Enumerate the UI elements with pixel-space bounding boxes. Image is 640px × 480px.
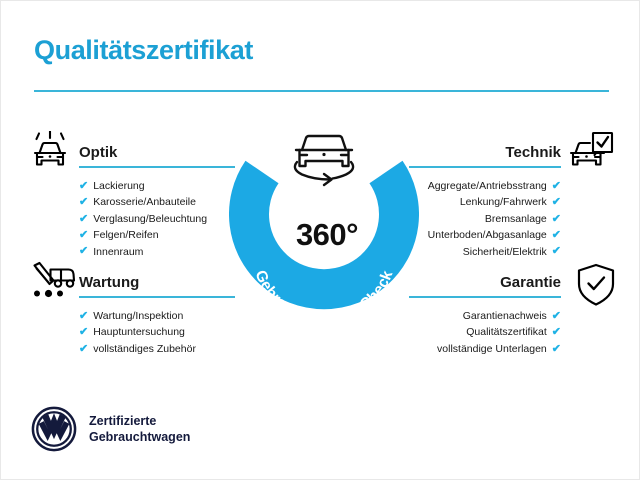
list-item-label: Bremsanlage [485,211,547,227]
list-item-label: Qualitätszertifikat [466,324,547,340]
check-icon: ✔ [79,197,88,208]
list-item: Unterboden/Abgasanlage✔ [409,227,561,243]
list-item: ✔Wartung/Inspektion [79,308,235,324]
section-technik: Technik Aggregate/Antriebsstrang✔ Lenkun… [409,139,561,260]
list-item: ✔Felgen/Reifen [79,227,235,243]
section-wartung-list: ✔Wartung/Inspektion ✔Hauptuntersuchung ✔… [79,308,235,357]
check-icon: ✔ [79,311,88,322]
check-icon: ✔ [552,181,561,192]
section-optik-title: Optik [79,144,117,161]
check-icon: ✔ [552,327,561,338]
section-garantie-list: Garantienachweis✔ Qualitätszertifikat✔ v… [409,308,561,357]
shield-check-icon [575,263,617,312]
check-icon: ✔ [79,181,88,192]
list-item: ✔Hauptuntersuchung [79,324,235,340]
check-icon: ✔ [552,214,561,225]
check-icon: ✔ [552,197,561,208]
badge-ring [249,172,399,289]
list-item: ✔Lackierung [79,178,235,194]
section-garantie-divider [409,296,561,298]
list-item: Qualitätszertifikat✔ [409,324,561,340]
section-optik-header: Optik [79,139,235,169]
list-item-label: Sicherheit/Elektrik [463,244,547,260]
car-shine-icon [27,131,73,178]
check-icon: ✔ [79,230,88,241]
list-item: Garantienachweis✔ [409,308,561,324]
check-icon: ✔ [552,230,561,241]
badge-360-gebrauchtwagen-check: Gebrauchtwagen-Check 360° [229,119,419,315]
list-item-label: Lenkung/Fahrwerk [460,194,547,210]
list-item-label: vollständiges Zubehör [93,341,196,357]
list-item: Bremsanlage✔ [409,211,561,227]
check-icon: ✔ [79,246,88,257]
check-icon: ✔ [79,344,88,355]
list-item-label: Garantienachweis [463,308,547,324]
section-garantie-title: Garantie [500,274,561,291]
check-icon: ✔ [552,246,561,257]
section-technik-list: Aggregate/Antriebsstrang✔ Lenkung/Fahrwe… [409,178,561,260]
section-technik-header: Technik [409,139,561,169]
section-wartung-divider [79,296,235,298]
section-technik-title: Technik [505,144,561,161]
footer-brand: Zertifizierte Gebrauchtwagen [31,406,190,452]
list-item: Aggregate/Antriebsstrang✔ [409,178,561,194]
list-item-label: Verglasung/Beleuchtung [93,211,207,227]
section-optik-divider [79,166,235,168]
section-technik-divider [409,166,561,168]
certificate-page: Qualitätszertifikat Optik ✔Lackierung ✔K… [1,1,639,479]
section-wartung-header: Wartung [79,269,235,299]
list-item-label: Karosserie/Anbauteile [93,194,196,210]
page-title: Qualitätszertifikat [34,35,253,66]
check-icon: ✔ [552,344,561,355]
footer-line-1: Zertifizierte [89,413,190,429]
footer-text: Zertifizierte Gebrauchtwagen [89,413,190,445]
section-optik: Optik ✔Lackierung ✔Karosserie/Anbauteile… [79,139,235,260]
section-wartung: Wartung ✔Wartung/Inspektion ✔Hauptunters… [79,269,235,357]
list-item-label: Unterboden/Abgasanlage [428,227,547,243]
section-wartung-title: Wartung [79,274,139,291]
list-item-label: Innenraum [93,244,143,260]
list-item-label: Aggregate/Antriebsstrang [428,178,547,194]
volkswagen-logo [31,406,77,452]
check-icon: ✔ [79,214,88,225]
list-item: vollständige Unterlagen✔ [409,341,561,357]
header-divider [34,90,609,92]
check-icon: ✔ [79,327,88,338]
list-item-label: Lackierung [93,178,144,194]
section-optik-list: ✔Lackierung ✔Karosserie/Anbauteile ✔Verg… [79,178,235,260]
wrench-car-service-icon [28,261,78,308]
footer-line-2: Gebrauchtwagen [89,429,190,445]
list-item: ✔Innenraum [79,244,235,260]
check-icon: ✔ [552,311,561,322]
car-rotate-360-icon [295,136,353,185]
section-garantie: Garantie Garantienachweis✔ Qualitätszert… [409,269,561,357]
list-item-label: Felgen/Reifen [93,227,158,243]
list-item: ✔Karosserie/Anbauteile [79,194,235,210]
car-checkbox-icon [569,131,615,178]
section-garantie-header: Garantie [409,269,561,299]
list-item: Sicherheit/Elektrik✔ [409,244,561,260]
list-item-label: Wartung/Inspektion [93,308,183,324]
list-item: Lenkung/Fahrwerk✔ [409,194,561,210]
list-item-label: vollständige Unterlagen [437,341,547,357]
list-item: ✔Verglasung/Beleuchtung [79,211,235,227]
list-item: ✔vollständiges Zubehör [79,341,235,357]
list-item-label: Hauptuntersuchung [93,324,185,340]
